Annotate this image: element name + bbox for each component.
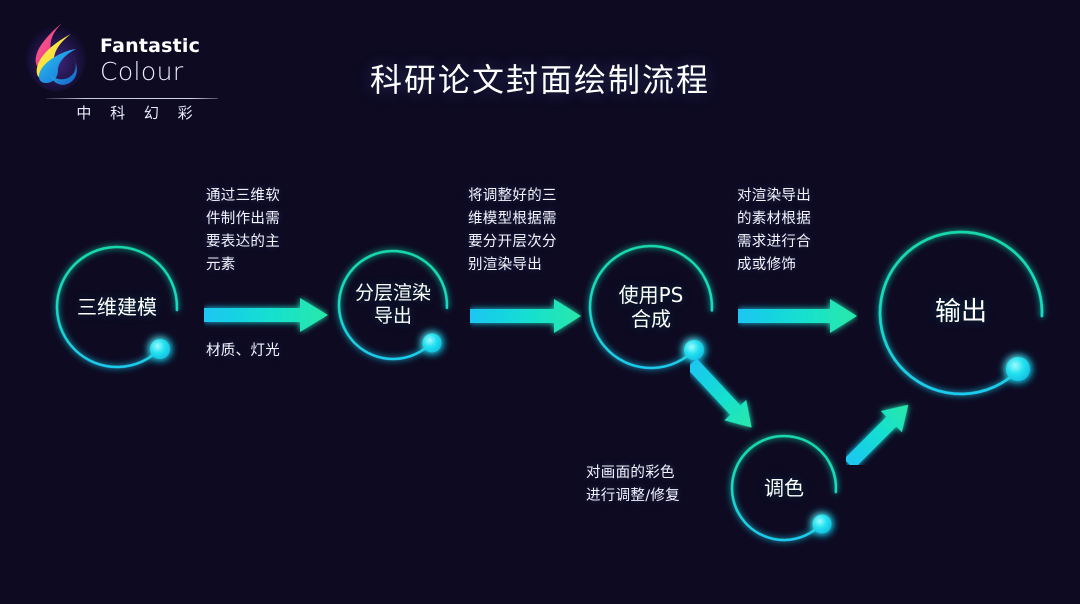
page-title: 科研论文封面绘制流程 — [0, 55, 1080, 101]
arrow-render-to-photoshop — [470, 296, 582, 336]
arrow-photoshop-to-colorgrade — [690, 358, 800, 458]
slide-canvas: Fantastic Colour 中 科 幻 彩 科研论文封面绘制流程 — [0, 0, 1080, 604]
arrow-photoshop-to-output — [738, 296, 858, 336]
node-dot — [150, 339, 170, 359]
brand-name-chinese: 中 科 幻 彩 — [58, 102, 218, 123]
node-dot — [1006, 357, 1030, 381]
brand-name-line1: Fantastic — [100, 36, 218, 57]
note-modeling-above: 通过三维软 件制作出需 要表达的主 元素 — [206, 185, 316, 277]
note-render: 将调整好的三 维模型根据需 要分开层次分 别渲染导出 — [468, 185, 588, 277]
node-dot — [813, 515, 832, 534]
flow-node-modeling[interactable]: 三维建模 — [49, 239, 185, 375]
flow-node-render[interactable]: 分层渲染 导出 — [331, 243, 455, 367]
note-photoshop: 对渲染导出 的素材根据 需求进行合 成或修饰 — [737, 185, 847, 277]
arrow-modeling-to-render — [204, 295, 329, 335]
node-dot — [423, 334, 442, 353]
flow-node-photoshop[interactable]: 使用PS 合成 — [582, 238, 720, 376]
note-colorgrade: 对画面的彩色 进行调整/修复 — [586, 462, 716, 508]
note-modeling-below: 材质、灯光 — [206, 340, 326, 363]
arrow-colorgrade-to-output — [846, 365, 956, 465]
node-dot — [684, 340, 704, 360]
